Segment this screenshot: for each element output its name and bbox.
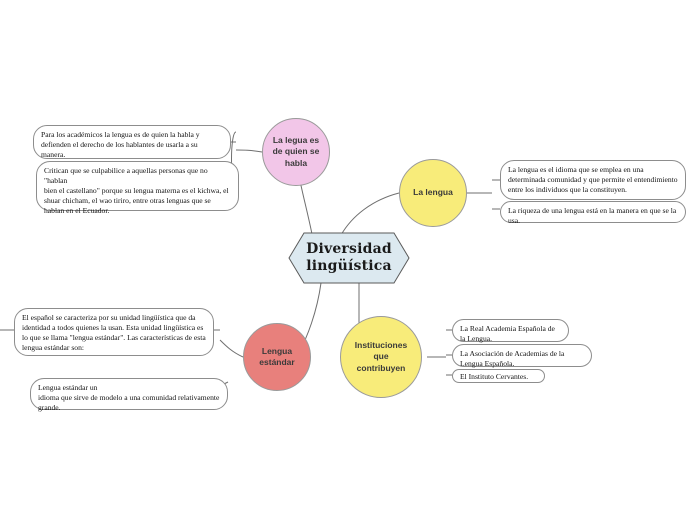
note-instituciones-2[interactable]: La Asociación de Academias de la Lengua … — [452, 344, 592, 367]
branch-node-label: Lengua estándar — [259, 346, 294, 369]
edge-la-legua-to-notes — [236, 150, 262, 152]
center-node-diversidad-linguistica[interactable]: Diversidad lingüística — [288, 232, 410, 284]
branch-node-label: La legua es de quien se habla — [273, 135, 320, 169]
note-instituciones-1[interactable]: La Real Academia Española de la Lengua. — [452, 319, 569, 342]
edge-center-to-la-lengua — [341, 193, 399, 235]
note-la-lengua-2[interactable]: La riqueza de una lengua está en la mane… — [500, 201, 686, 223]
center-node-label: Diversidad lingüística — [288, 241, 410, 276]
note-lengua-estandar-2[interactable]: Lengua estándar un idioma que sirve de m… — [30, 378, 228, 410]
branch-node-instituciones-que-contribuyen[interactable]: Instituciones que contribuyen — [340, 316, 422, 398]
note-la-lengua-1[interactable]: La lengua es el idioma que se emplea en … — [500, 160, 686, 200]
mindmap-canvas: Diversidad lingüística La legua es de qu… — [0, 0, 697, 520]
note-la-legua-1[interactable]: Para los académicos la lengua es de quie… — [33, 125, 231, 159]
branch-node-label: La lengua — [413, 187, 453, 198]
branch-node-la-lengua[interactable]: La lengua — [399, 159, 467, 227]
branch-node-lengua-estandar[interactable]: Lengua estándar — [243, 323, 311, 391]
note-instituciones-3[interactable]: El Instituto Cervantes. — [452, 369, 545, 383]
edge-lengua-estandar-to-notes — [220, 340, 243, 357]
note-la-legua-2[interactable]: Critican que se culpabilice a aquellas p… — [36, 161, 239, 211]
note-lengua-estandar-1[interactable]: El español se caracteriza por su unidad … — [14, 308, 214, 356]
branch-node-la-legua-es-de-quien-se-habla[interactable]: La legua es de quien se habla — [262, 118, 330, 186]
branch-node-label: Instituciones que contribuyen — [355, 340, 407, 374]
